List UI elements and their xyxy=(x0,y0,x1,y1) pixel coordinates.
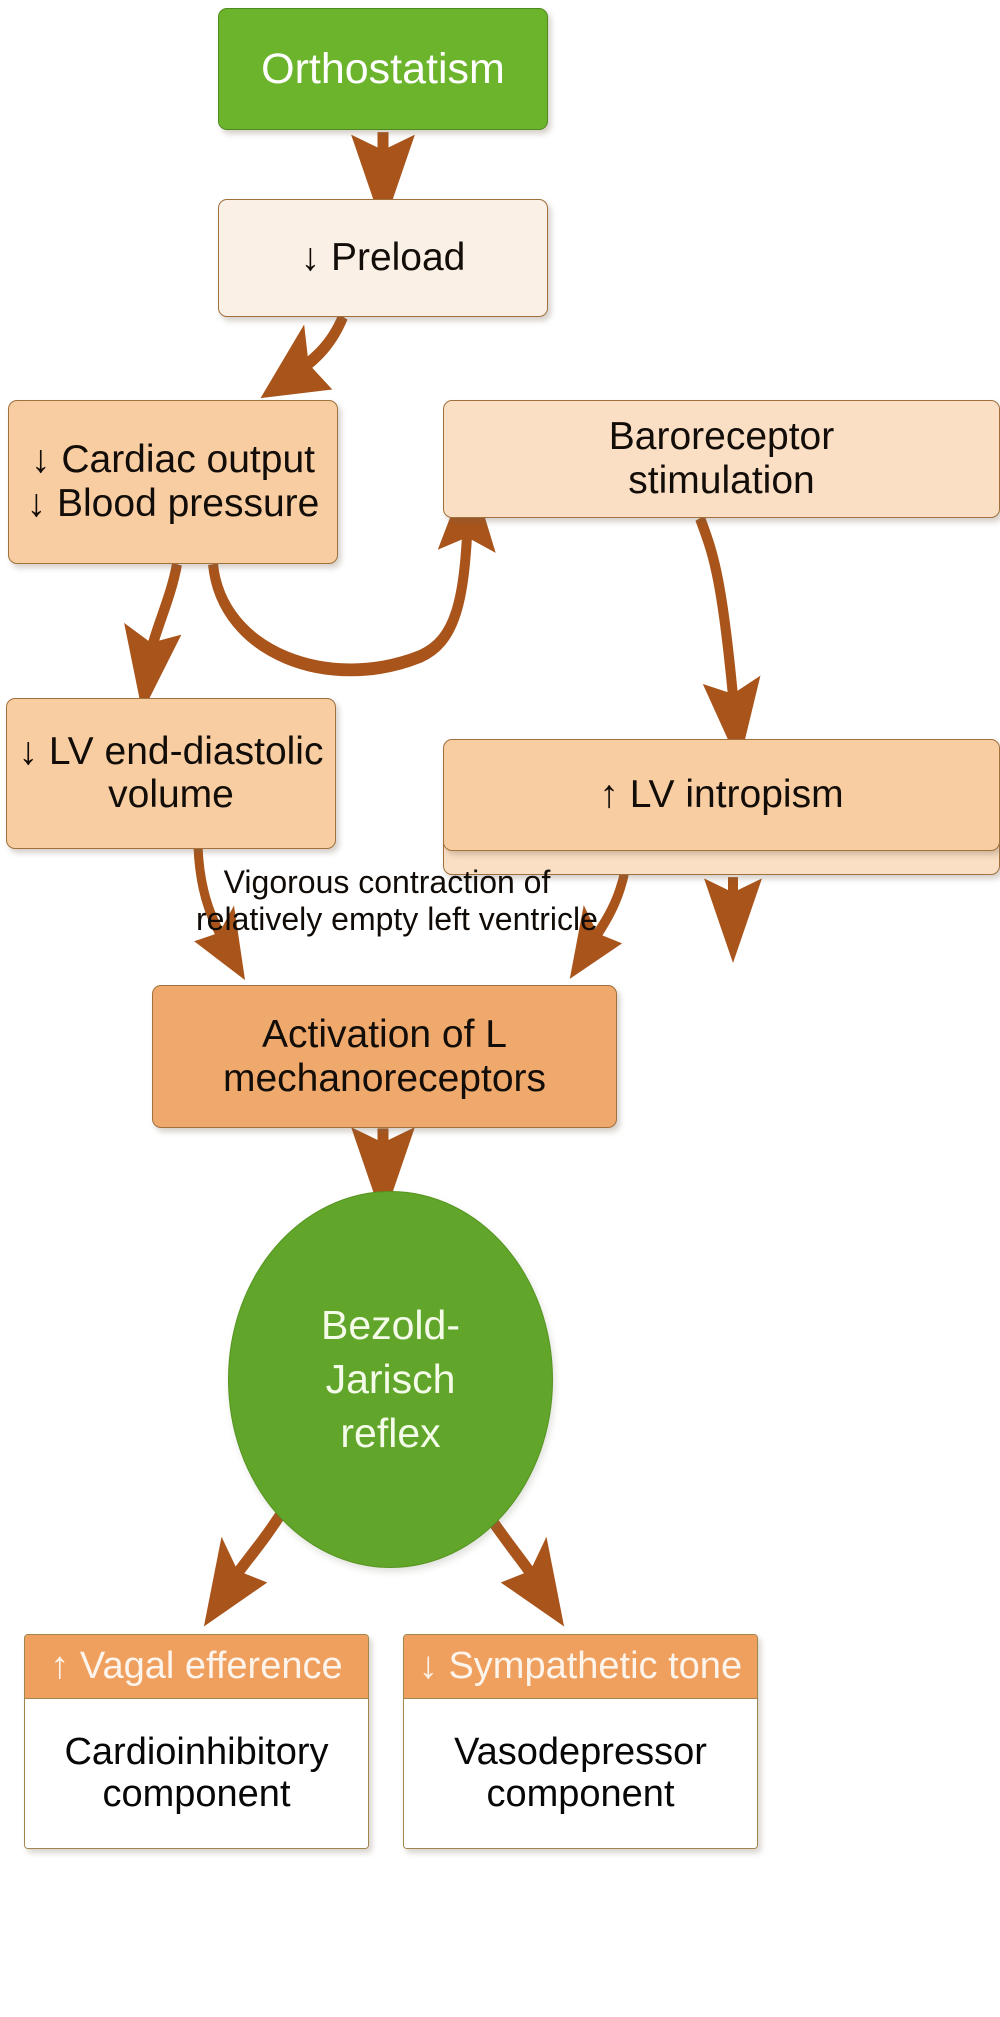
node-sympathetic-body-line1: Vasodepressor xyxy=(454,1731,707,1774)
node-orthostatism-label: Orthostatism xyxy=(261,45,505,93)
node-cardiac-output[interactable]: ↓ Cardiac output ↓ Blood pressure xyxy=(8,400,338,564)
node-vagal-body-line1: Cardioinhibitory xyxy=(64,1731,328,1774)
node-lvedv-line1: ↓ LV end-diastolic xyxy=(19,730,324,774)
node-cardiac-output-line1: ↓ Cardiac output xyxy=(31,438,315,482)
node-vagal-header: ↑ Vagal efference xyxy=(50,1645,342,1688)
node-bezold-line2: Jarisch xyxy=(326,1352,456,1406)
node-preload[interactable]: ↓ Preload xyxy=(218,199,548,317)
node-bezold-jarisch-reflex[interactable]: Bezold- Jarisch reflex xyxy=(228,1191,553,1567)
node-orthostatism[interactable]: Orthostatism xyxy=(218,8,548,130)
node-vagal-efference[interactable]: ↑ Vagal efference Cardioinhibitory compo… xyxy=(24,1634,369,1849)
edge-preload-cardiac xyxy=(292,317,343,376)
edge-cardiac-lvedv xyxy=(148,564,177,667)
node-mechanoreceptors[interactable]: Activation of L mechanoreceptors xyxy=(152,985,617,1129)
node-cardiac-output-line2: ↓ Blood pressure xyxy=(27,482,320,526)
node-lv-intropism-label: ↑ LV intropism xyxy=(599,773,843,817)
node-lv-intropism[interactable]: ↑ LV intropism xyxy=(443,739,1000,852)
node-baroreceptor-line2: stimulation xyxy=(628,459,814,503)
edge-baroreceptor-catecholamines xyxy=(700,518,735,718)
node-preload-label: ↓ Preload xyxy=(301,236,466,280)
node-bezold-line3: reflex xyxy=(340,1406,440,1460)
node-vagal-body-line2: component xyxy=(102,1773,290,1816)
node-vagal-header-row: ↑ Vagal efference xyxy=(25,1635,368,1699)
node-sympathetic-body-line2: component xyxy=(486,1773,674,1816)
node-mechanoreceptors-line1: Activation of L xyxy=(262,1013,507,1057)
node-lvedv-line2: volume xyxy=(108,773,234,817)
node-baroreceptor-line1: Baroreceptor xyxy=(609,415,834,459)
node-sympathetic-header-row: ↓ Sympathetic tone xyxy=(404,1635,757,1699)
node-lv-end-diastolic-volume[interactable]: ↓ LV end-diastolic volume xyxy=(6,698,336,849)
flowchart-canvas: Orthostatism ↓ Preload ↓ Cardiac output … xyxy=(0,0,1000,2017)
node-baroreceptor-stimulation[interactable]: Baroreceptor stimulation xyxy=(443,400,1000,518)
node-sympathetic-tone[interactable]: ↓ Sympathetic tone Vasodepressor compone… xyxy=(403,1634,758,1849)
annotation-vigorous-line2: relatively empty left ventricle xyxy=(196,901,578,938)
annotation-vigorous-contraction: Vigorous contraction of relatively empty… xyxy=(196,864,578,938)
node-sympathetic-header: ↓ Sympathetic tone xyxy=(419,1645,742,1688)
annotation-vigorous-line1: Vigorous contraction of xyxy=(196,864,578,901)
node-sympathetic-body: Vasodepressor component xyxy=(404,1699,757,1848)
node-mechanoreceptors-line2: mechanoreceptors xyxy=(223,1057,546,1101)
node-bezold-line1: Bezold- xyxy=(321,1298,460,1352)
node-vagal-body: Cardioinhibitory component xyxy=(25,1699,368,1848)
